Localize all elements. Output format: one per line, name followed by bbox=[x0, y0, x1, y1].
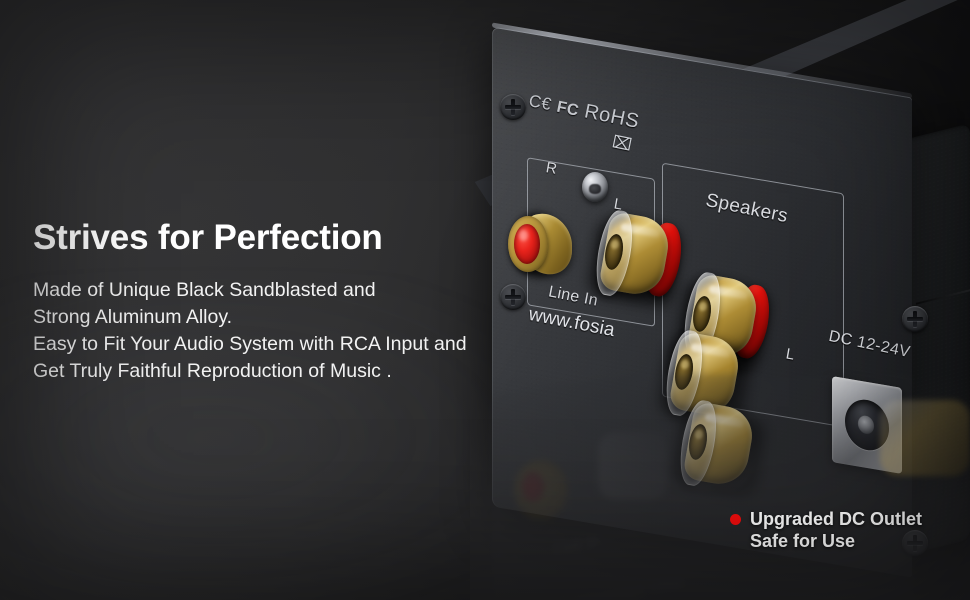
body-line-4: Get Truly Faithful Reproduction of Music… bbox=[33, 358, 467, 385]
callout-line-1: Upgraded DC Outlet bbox=[750, 509, 922, 529]
rca-jack-red-insert bbox=[514, 224, 540, 264]
rca-input-jack-right bbox=[508, 210, 574, 280]
panel-screw-bottom-left bbox=[500, 284, 526, 310]
blurred-foreground-post bbox=[880, 400, 970, 476]
callout-line-2: Safe for Use bbox=[750, 531, 855, 551]
body-line-2: Strong Aluminum Alloy. bbox=[33, 304, 467, 331]
binding-post-negative-2 bbox=[675, 400, 766, 494]
page-title: Strives for Perfection bbox=[33, 218, 383, 258]
fc-mark-icon: FC bbox=[555, 99, 580, 120]
ce-mark-icon: C€ bbox=[527, 91, 553, 114]
body-line-1: Made of Unique Black Sandblasted and bbox=[33, 277, 467, 304]
body-line-3: Easy to Fit Your Audio System with RCA I… bbox=[33, 331, 467, 358]
binding-post-positive-1 bbox=[591, 210, 682, 304]
chrome-stud bbox=[582, 172, 608, 202]
product-banner: C€ FC RoHS ⌧ R L Line In www.fosia Speak… bbox=[0, 0, 970, 600]
body-copy: Made of Unique Black Sandblasted and Str… bbox=[33, 277, 467, 385]
feature-callout: Upgraded DC Outlet Safe for Use bbox=[730, 508, 922, 552]
weee-crossed-bin-icon: ⌧ bbox=[610, 132, 633, 156]
bullet-dot-icon bbox=[730, 514, 741, 525]
panel-screw-top-left bbox=[500, 94, 526, 120]
panel-screw-top-right bbox=[902, 306, 928, 332]
callout-text: Upgraded DC Outlet Safe for Use bbox=[750, 508, 922, 552]
